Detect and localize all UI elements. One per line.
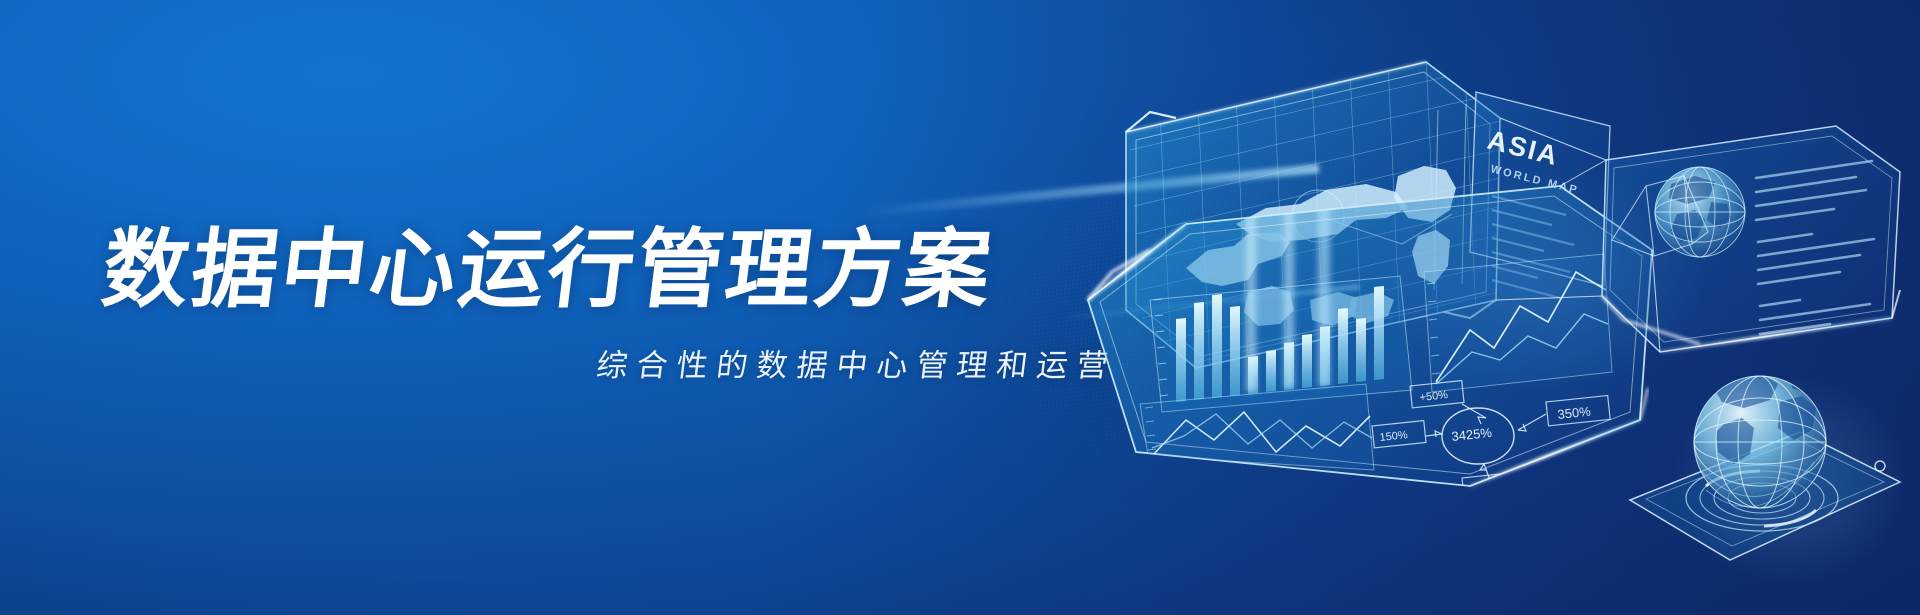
hero-banner: 数据中心运行管理方案 综合性的数据中心管理和运营	[0, 0, 1920, 615]
hologram-svg: ASIA WORLD MAP	[1000, 0, 1920, 615]
hologram-artwork: ASIA WORLD MAP	[1000, 0, 1920, 615]
line-chart-right	[1424, 254, 1612, 392]
text-panel	[1602, 126, 1900, 352]
globe-platform	[1630, 372, 1900, 560]
banner-title: 数据中心运行管理方案	[97, 225, 998, 315]
banner-copy: 数据中心运行管理方案 综合性的数据中心管理和运营	[0, 0, 1120, 615]
